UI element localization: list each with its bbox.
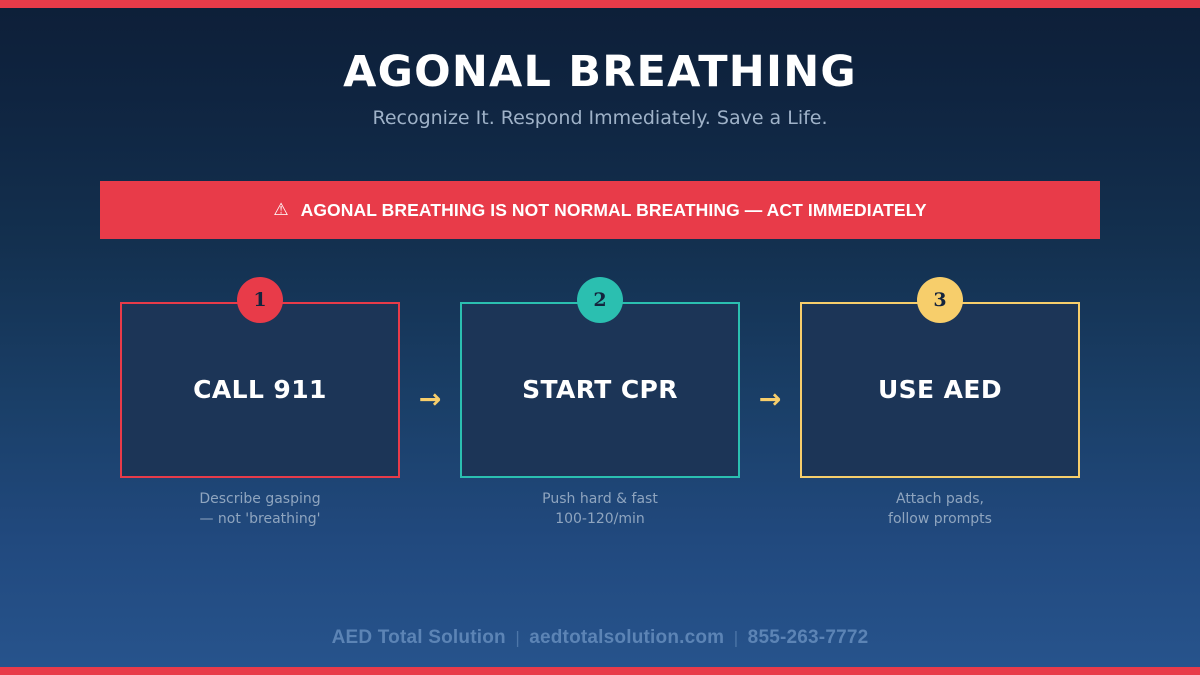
step-3-label: USE AED bbox=[878, 374, 1002, 406]
step-3-caption-line-2: follow prompts bbox=[800, 509, 1080, 529]
step-3-number: 3 bbox=[933, 291, 946, 310]
step-2-number-badge: 2 bbox=[577, 277, 623, 323]
page-subtitle: Recognize It. Respond Immediately. Save … bbox=[0, 104, 1200, 132]
poster-header: AGONAL BREATHING Recognize It. Respond I… bbox=[0, 44, 1200, 132]
poster-canvas: AGONAL BREATHING Recognize It. Respond I… bbox=[0, 0, 1200, 675]
flow-arrow-1-icon: → bbox=[410, 385, 450, 415]
step-1-card: CALL 911 bbox=[120, 302, 400, 478]
bottom-accent-bar bbox=[0, 667, 1200, 675]
top-accent-bar bbox=[0, 0, 1200, 8]
step-1-caption-line-1: Describe gasping bbox=[120, 489, 400, 509]
footer-brand: AED Total Solution bbox=[332, 627, 506, 649]
step-2-label: START CPR bbox=[522, 374, 678, 406]
step-3-card: USE AED bbox=[800, 302, 1080, 478]
step-2-caption-line-2: 100-120/min bbox=[460, 509, 740, 529]
step-1-label: CALL 911 bbox=[193, 374, 327, 406]
footer-website[interactable]: aedtotalsolution.com bbox=[529, 627, 724, 649]
step-2-number: 2 bbox=[593, 291, 606, 310]
page-title: AGONAL BREATHING bbox=[0, 44, 1200, 100]
step-2-caption-line-1: Push hard & fast bbox=[460, 489, 740, 509]
step-1-number: 1 bbox=[253, 291, 266, 310]
step-2-card: START CPR bbox=[460, 302, 740, 478]
step-1-number-badge: 1 bbox=[237, 277, 283, 323]
footer-phone[interactable]: 855-263-7772 bbox=[748, 627, 869, 649]
warning-triangle-icon: ⚠ bbox=[273, 202, 288, 219]
step-3: USE AED 3 Attach pads, follow prompts bbox=[800, 277, 1080, 537]
step-2: START CPR 2 Push hard & fast 100-120/min bbox=[460, 277, 740, 537]
flow-arrow-2-icon: → bbox=[750, 385, 790, 415]
step-3-number-badge: 3 bbox=[917, 277, 963, 323]
poster-footer: AED Total Solution|aedtotalsolution.com|… bbox=[0, 627, 1200, 649]
steps-row: CALL 911 1 Describe gasping — not 'breat… bbox=[0, 277, 1200, 537]
step-3-caption: Attach pads, follow prompts bbox=[800, 489, 1080, 529]
alert-banner-text: AGONAL BREATHING IS NOT NORMAL BREATHING… bbox=[301, 200, 927, 221]
footer-separator-2: | bbox=[724, 628, 747, 647]
step-1-caption: Describe gasping — not 'breathing' bbox=[120, 489, 400, 529]
step-1: CALL 911 1 Describe gasping — not 'breat… bbox=[120, 277, 400, 537]
footer-separator-1: | bbox=[506, 628, 529, 647]
step-2-caption: Push hard & fast 100-120/min bbox=[460, 489, 740, 529]
alert-banner: ⚠ AGONAL BREATHING IS NOT NORMAL BREATHI… bbox=[100, 181, 1100, 239]
step-1-caption-line-2: — not 'breathing' bbox=[120, 509, 400, 529]
step-3-caption-line-1: Attach pads, bbox=[800, 489, 1080, 509]
